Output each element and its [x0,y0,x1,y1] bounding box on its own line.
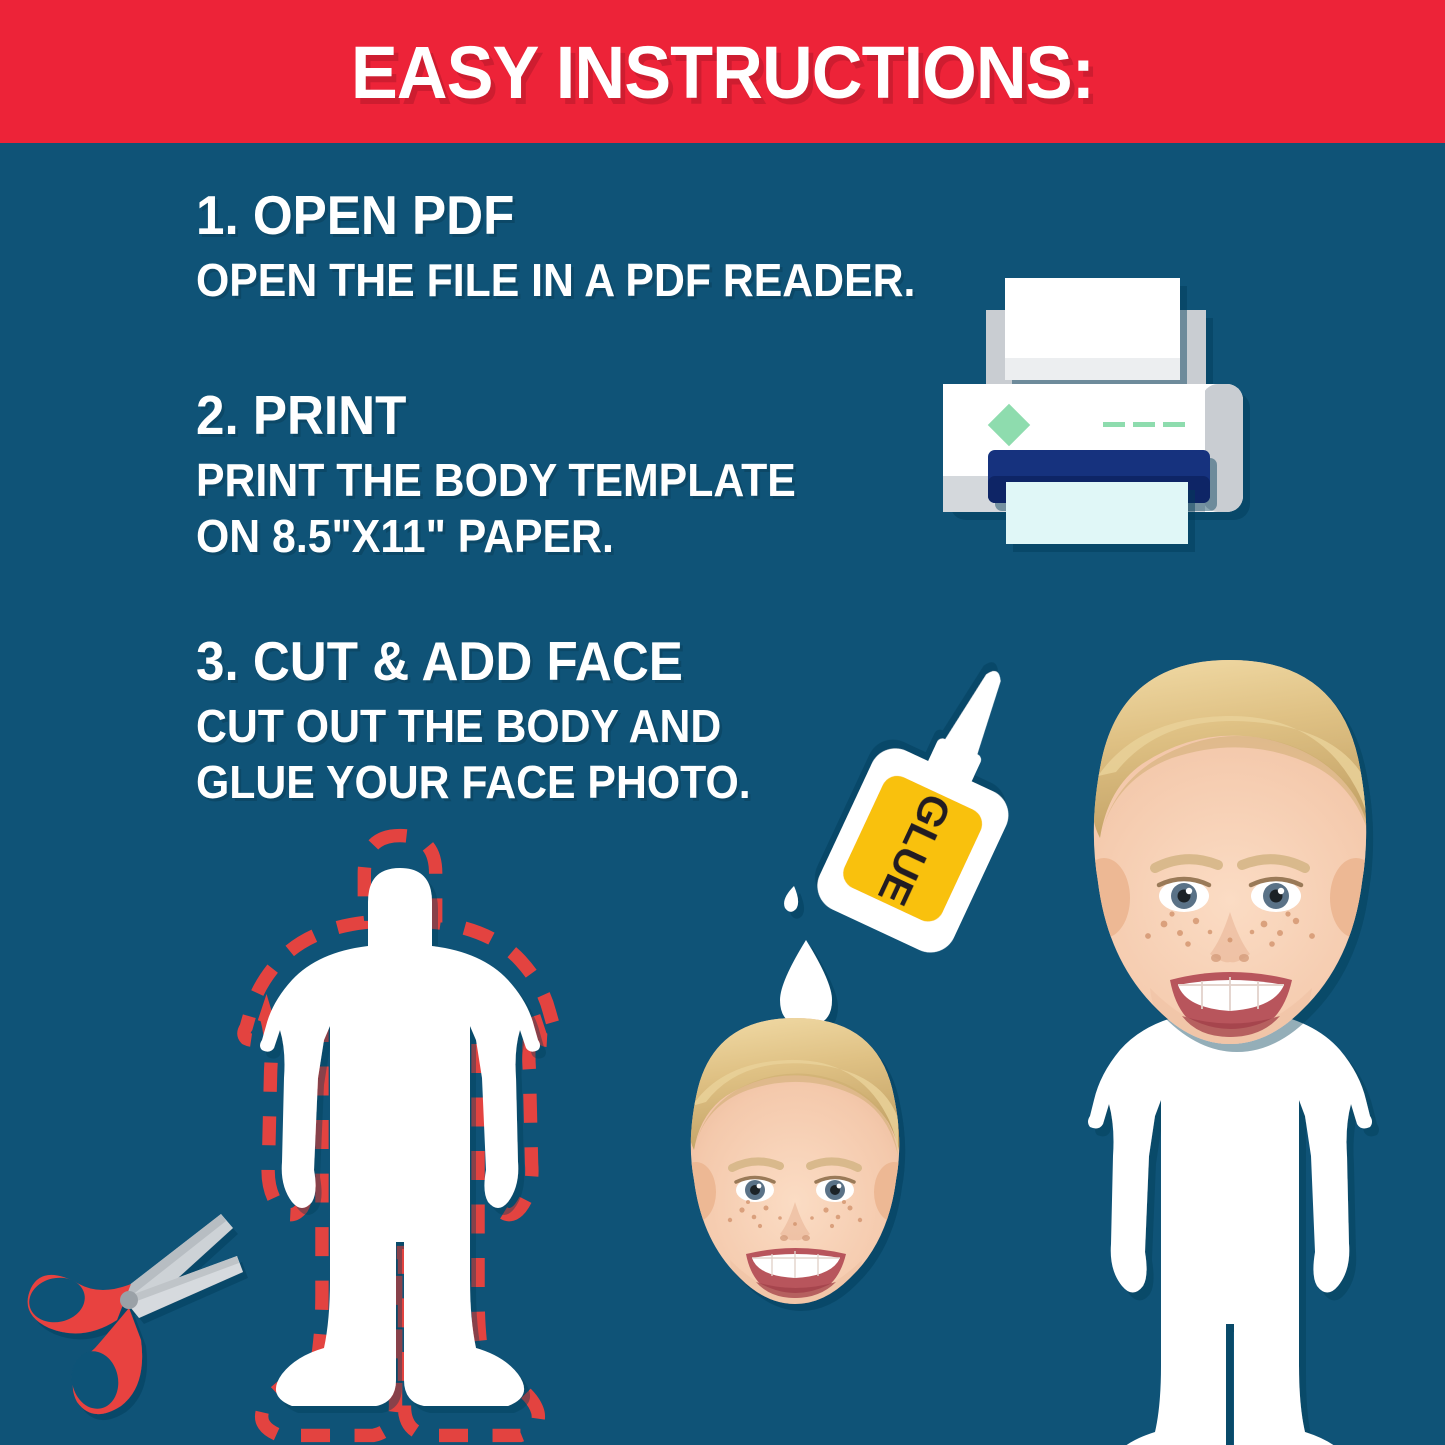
step-2-line-2: ON 8.5"X11" PAPER. [196,508,1014,564]
printer-status-dash-2 [1133,422,1155,427]
printer-illustration [940,258,1260,578]
step-1-line-1: OPEN THE FILE IN A PDF READER. [196,252,1014,308]
body-template-cutout [200,850,600,1445]
step-2-line-1: PRINT THE BODY TEMPLATE [196,452,1014,508]
poster-canvas: EASY INSTRUCTIONS: 1. OPEN PDF OPEN THE … [0,0,1445,1445]
printer-top-paper-shade [1005,358,1180,380]
step-3-title: 3. CUT & ADD FACE [196,632,1014,690]
scissors-pivot-screw [120,1291,138,1309]
printer-status-dash-1 [1103,422,1125,427]
printer-status-dash-3 [1163,422,1185,427]
glue-drip-small-icon [784,886,798,912]
printer-output-paper [1006,482,1188,544]
header-band: EASY INSTRUCTIONS: [0,0,1445,143]
face-photo-cutout [660,1010,930,1320]
assembled-head-photo [1020,640,1440,1060]
step-2-title: 2. PRINT [196,386,1014,444]
assembled-paper-doll [1020,640,1440,1445]
page-title: EASY INSTRUCTIONS: [36,30,1409,115]
step-1-title: 1. OPEN PDF [196,186,1014,244]
